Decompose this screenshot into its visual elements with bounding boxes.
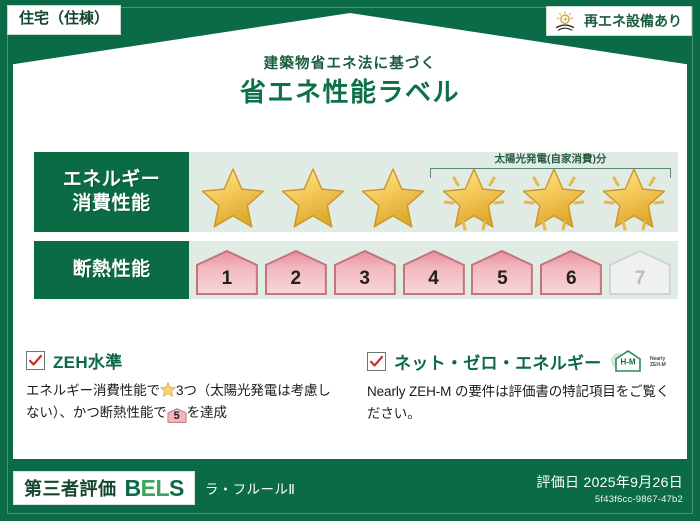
bels-letter-b: B (125, 475, 141, 501)
house-item: 6 (538, 249, 604, 296)
house-badge-5: 5 (469, 249, 535, 296)
zeh-m-logo-icon: H-M Nearly ZEH-M (610, 348, 674, 374)
page-title: 省エネ性能ラベル (0, 78, 700, 108)
title-block: 建築物省エネ法に基づく 省エネ性能ラベル (0, 56, 700, 108)
svg-text:H-M: H-M (620, 358, 635, 367)
house-badge-2: 2 (263, 249, 329, 296)
inline-house-number: 5 (167, 408, 187, 424)
zeh-standard-header: ZEH水準 (26, 348, 339, 373)
title-subtitle: 建築物省エネ法に基づく (0, 56, 700, 73)
energy-performance-row: エネルギー 消費性能 太陽光発電(自家消費)分 (34, 152, 678, 232)
house-item: 2 (263, 249, 329, 296)
star-icon (360, 167, 426, 230)
insulation-performance-body: 1 2 (189, 241, 678, 299)
inline-house-badge: 5 (167, 408, 187, 423)
net-zero-checkbox[interactable] (367, 352, 386, 371)
bels-letter-s: S (169, 475, 184, 501)
energy-performance-label: エネルギー 消費性能 (34, 152, 189, 232)
bels-letter-el: EL (141, 475, 169, 501)
check-icon (28, 353, 43, 368)
insulation-level-scale: 1 2 (189, 249, 678, 299)
energy-performance-label: 住宅（住棟） 再エネ設備あり 建築物省エネ法に基づく 省エネ性能ラベル (0, 0, 700, 521)
solar-annotation: 太陽光発電(自家消費)分 (426, 151, 675, 189)
bels-badge: 第三者評価 BELS (13, 471, 195, 505)
house-badge-7-inactive: 7 (607, 249, 673, 296)
inline-star-icon (160, 382, 176, 397)
sun-icon (554, 10, 578, 32)
category-tab: 住宅（住棟） (7, 5, 121, 35)
zeh-standard-checkbox[interactable] (26, 351, 45, 370)
star-icon (200, 167, 266, 230)
renewable-energy-badge: 再エネ設備あり (546, 6, 692, 36)
insulation-performance-row: 断熱性能 1 (34, 241, 678, 299)
net-zero-text: Nearly ZEH-M の要件は評価書の特記項目をご覧ください。 (367, 381, 680, 425)
evaluation-id: 5f43f6cc-9867-47b2 (536, 494, 683, 505)
energy-label-line1: エネルギー (63, 168, 161, 192)
zeh-text-part1: エネルギー消費性能で (26, 383, 160, 398)
house-item: 1 (194, 249, 260, 296)
energy-performance-body: 太陽光発電(自家消費)分 (189, 152, 678, 232)
performance-rows: エネルギー 消費性能 太陽光発電(自家消費)分 (34, 152, 678, 299)
solar-annotation-bracket (430, 168, 671, 178)
house-level-number: 1 (222, 268, 233, 296)
net-zero-title: ネット・ゼロ・エネルギー (394, 349, 602, 374)
house-badge-6: 6 (538, 249, 604, 296)
building-name: ラ・フルールⅡ (205, 478, 295, 498)
house-badge-3: 3 (332, 249, 398, 296)
footer-meta: 評価日 2025年9月26日 5f43f6cc-9867-47b2 (536, 472, 687, 505)
house-level-number: 4 (428, 268, 439, 296)
house-level-number: 7 (635, 268, 646, 296)
footer: 第三者評価 BELS ラ・フルールⅡ 評価日 2025年9月26日 5f43f6… (13, 465, 687, 511)
insulation-label-text: 断熱性能 (72, 258, 150, 282)
zeh-sections: ZEH水準 エネルギー消費性能で3つ（太陽光発電は考慮しない）、かつ断熱性能で5… (26, 348, 680, 425)
zeh-text-star-count: 3つ（太陽光発電 (176, 383, 277, 398)
house-level-number: 2 (291, 268, 302, 296)
third-party-label: 第三者評価 (24, 475, 117, 501)
renewable-badge-label: 再エネ設備あり (584, 11, 682, 31)
zeh-text-part3: を達成 (187, 405, 227, 420)
zeh-standard-text: エネルギー消費性能で3つ（太陽光発電は考慮しない）、かつ断熱性能で5を達成 (26, 380, 339, 424)
house-badge-4: 4 (401, 249, 467, 296)
house-item: 4 (401, 249, 467, 296)
net-zero-energy-section: ネット・ゼロ・エネルギー H-M Nearly ZEH-M Nearly ZEH… (353, 348, 680, 425)
check-icon (369, 354, 384, 369)
house-item: 5 (469, 249, 535, 296)
energy-label-line2: 消費性能 (72, 192, 150, 216)
star-item (273, 167, 353, 230)
evaluation-date: 評価日 2025年9月26日 (536, 472, 683, 492)
house-badge-1: 1 (194, 249, 260, 296)
zeh-standard-section: ZEH水準 エネルギー消費性能で3つ（太陽光発電は考慮しない）、かつ断熱性能で5… (26, 348, 353, 425)
zeh-standard-title: ZEH水準 (53, 348, 123, 373)
star-icon (280, 167, 346, 230)
house-level-number: 6 (566, 268, 577, 296)
insulation-performance-label: 断熱性能 (34, 241, 189, 299)
star-item (193, 167, 273, 230)
net-zero-header: ネット・ゼロ・エネルギー H-M Nearly ZEH-M (367, 348, 680, 374)
star-item (353, 167, 433, 230)
house-level-number: 5 (497, 268, 508, 296)
svg-text:ZEH-M: ZEH-M (650, 362, 666, 368)
bels-logo: BELS (125, 477, 184, 500)
category-tab-label: 住宅（住棟） (19, 10, 109, 27)
house-item: 7 (607, 249, 673, 296)
house-level-number: 3 (359, 268, 370, 296)
house-item: 3 (332, 249, 398, 296)
solar-annotation-label: 太陽光発電(自家消費)分 (426, 151, 675, 166)
